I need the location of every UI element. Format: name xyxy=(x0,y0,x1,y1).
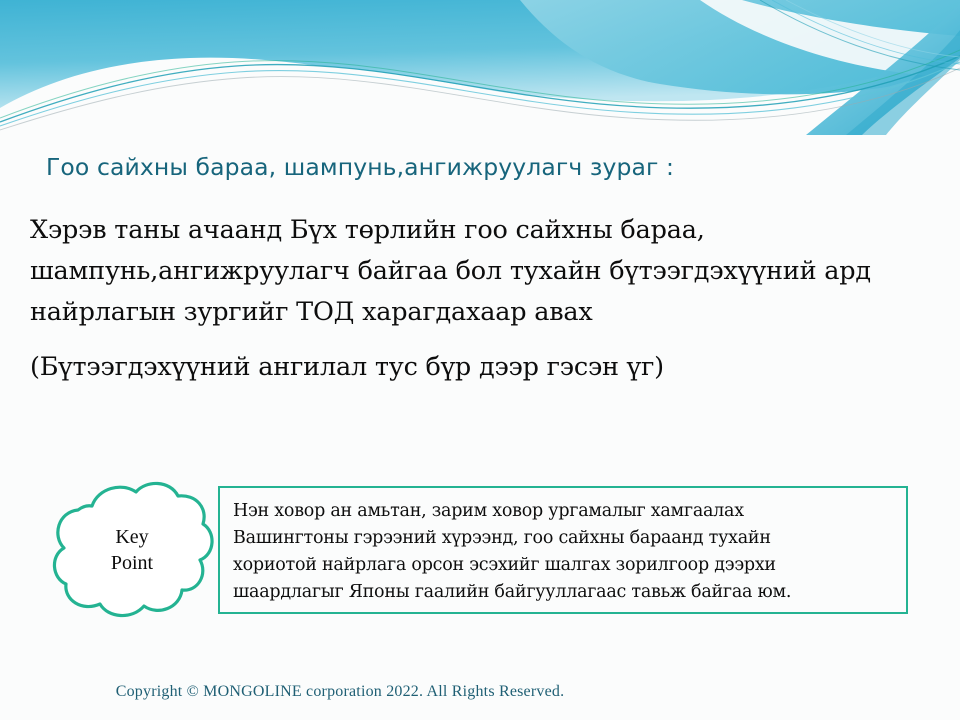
slide-body: Хэрэв таны ачаанд Бүх төрлийн гоо сайхны… xyxy=(30,210,930,388)
note-line: хориотой найрлага орсон эсэхийг шалгах з… xyxy=(233,552,894,579)
key-point-label: Key Point xyxy=(48,472,216,627)
body-paragraph-2: (Бүтээгдэхүүний ангилал тус бүр дээр гэс… xyxy=(30,347,930,388)
note-line: шаардлагыг Японы гаалийн байгууллагаас т… xyxy=(233,579,894,606)
body-paragraph-1: Хэрэв таны ачаанд Бүх төрлийн гоо сайхны… xyxy=(30,210,930,333)
note-line: Нэн ховор ан амьтан, зарим ховор ургамал… xyxy=(233,498,894,525)
note-box: Нэн ховор ан амьтан, зарим ховор ургамал… xyxy=(218,486,908,614)
decorative-header-banner xyxy=(0,0,960,135)
footer-copyright-text: Copyright © MONGOLINE corporation 2022. … xyxy=(116,683,565,700)
key-point-cloud: Key Point xyxy=(48,472,216,627)
key-point-line-1: Key xyxy=(115,524,148,550)
slide-title: Гоо сайхны бараа, шампунь,ангижруулагч з… xyxy=(46,152,926,182)
footer-copyright: Copyright © MONGOLINE corporation 2022. … xyxy=(0,683,960,701)
slide-canvas: Гоо сайхны бараа, шампунь,ангижруулагч з… xyxy=(0,0,960,720)
note-line: Вашингтоны гэрээний хүрээнд, гоо сайхны … xyxy=(233,525,894,552)
key-point-line-2: Point xyxy=(111,550,153,576)
